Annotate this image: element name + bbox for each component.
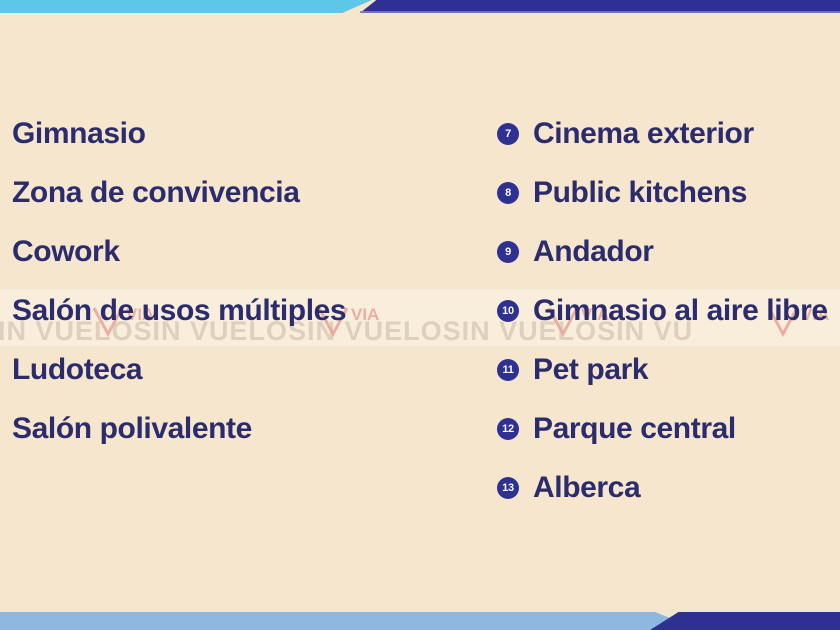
item-label: Andador	[533, 237, 654, 267]
bottom-bar-hairline	[0, 609, 840, 612]
list-item: 3 Cowork	[0, 230, 120, 274]
item-number-badge: 8	[497, 182, 519, 204]
item-label: Pet park	[533, 355, 648, 385]
bottom-decorative-bar	[0, 608, 840, 630]
item-label: Zona de convivencia	[12, 178, 300, 208]
item-label: Salón polivalente	[12, 414, 252, 444]
bottom-bar-blue-segment	[0, 612, 700, 630]
list-item: 1 Gimnasio	[0, 112, 146, 156]
slide-canvas: ESIN VUELOSIN VUELOSIN VUELOSIN VUELOSIN…	[0, 0, 840, 630]
item-number-badge: 10	[497, 300, 519, 322]
item-number-badge: 7	[497, 123, 519, 145]
top-bar-cyan-segment	[0, 0, 372, 13]
item-label: Cowork	[12, 237, 120, 267]
item-label: Alberca	[533, 473, 640, 503]
bottom-bar-navy-segment	[650, 612, 840, 630]
list-item: 5 Ludoteca	[0, 348, 142, 392]
top-bar-shadow-strip	[360, 11, 840, 13]
list-item: 10 Gimnasio al aire libre	[497, 289, 828, 333]
item-label: Public kitchens	[533, 178, 747, 208]
item-label: Gimnasio al aire libre	[533, 296, 828, 326]
list-item: 2 Zona de convivencia	[0, 171, 300, 215]
list-item: 4 Salón de usos múltiples	[0, 289, 346, 333]
list-item: 13 Alberca	[497, 466, 640, 510]
item-number-badge: 11	[497, 359, 519, 381]
svg-text:VIA: VIA	[351, 305, 379, 324]
item-number-badge: 12	[497, 418, 519, 440]
list-item: 8 Public kitchens	[497, 171, 747, 215]
list-item: 11 Pet park	[497, 348, 648, 392]
item-label: Gimnasio	[12, 119, 146, 149]
item-label: Salón de usos múltiples	[12, 296, 346, 326]
item-label: Ludoteca	[12, 355, 142, 385]
list-item: 6 Salón polivalente	[0, 407, 252, 451]
item-number-badge: 13	[497, 477, 519, 499]
item-label: Parque central	[533, 414, 736, 444]
top-decorative-bar	[0, 0, 840, 13]
list-item: 12 Parque central	[497, 407, 736, 451]
list-item: 9 Andador	[497, 230, 654, 274]
item-label: Cinema exterior	[533, 119, 754, 149]
item-number-badge: 9	[497, 241, 519, 263]
list-item: 7 Cinema exterior	[497, 112, 754, 156]
